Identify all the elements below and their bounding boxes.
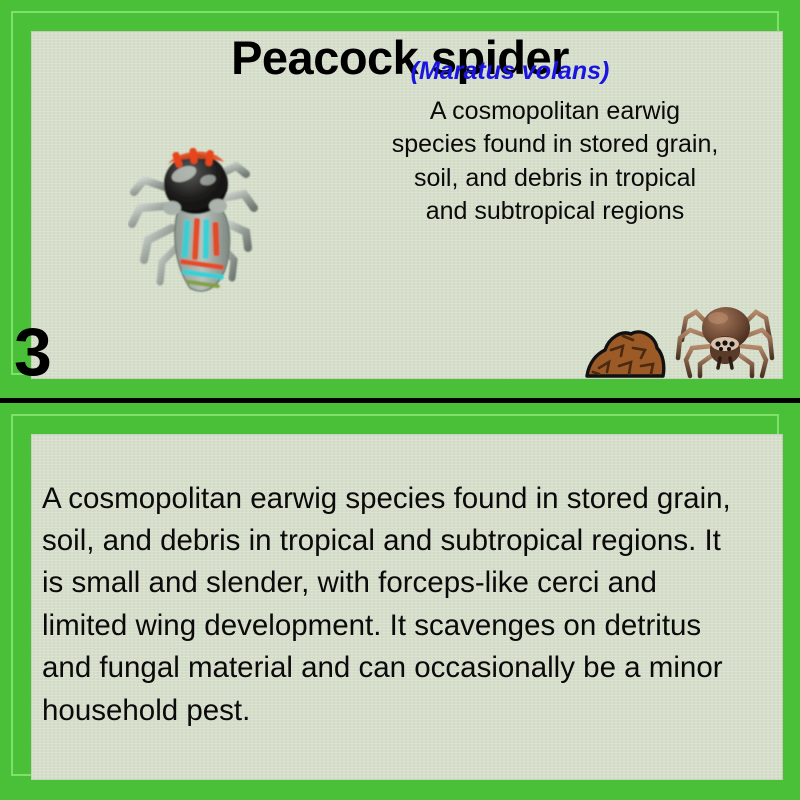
spider-icon (672, 296, 776, 382)
long-description: A cosmopolitan earwig species found in s… (42, 478, 742, 733)
scientific-name: (Maratus volans) (300, 57, 720, 86)
bottom-panel: A cosmopolitan earwig species found in s… (0, 403, 800, 800)
peacock-spider-photo (128, 136, 260, 301)
soil-mound-icon (583, 322, 667, 380)
top-panel: Peacock spider (Maratus volans) A cosmop… (0, 0, 800, 398)
card-number-badge: 3 (14, 318, 52, 386)
species-info-card: Peacock spider (Maratus volans) A cosmop… (0, 0, 800, 800)
short-description: A cosmopolitan earwig species found in s… (390, 95, 720, 228)
